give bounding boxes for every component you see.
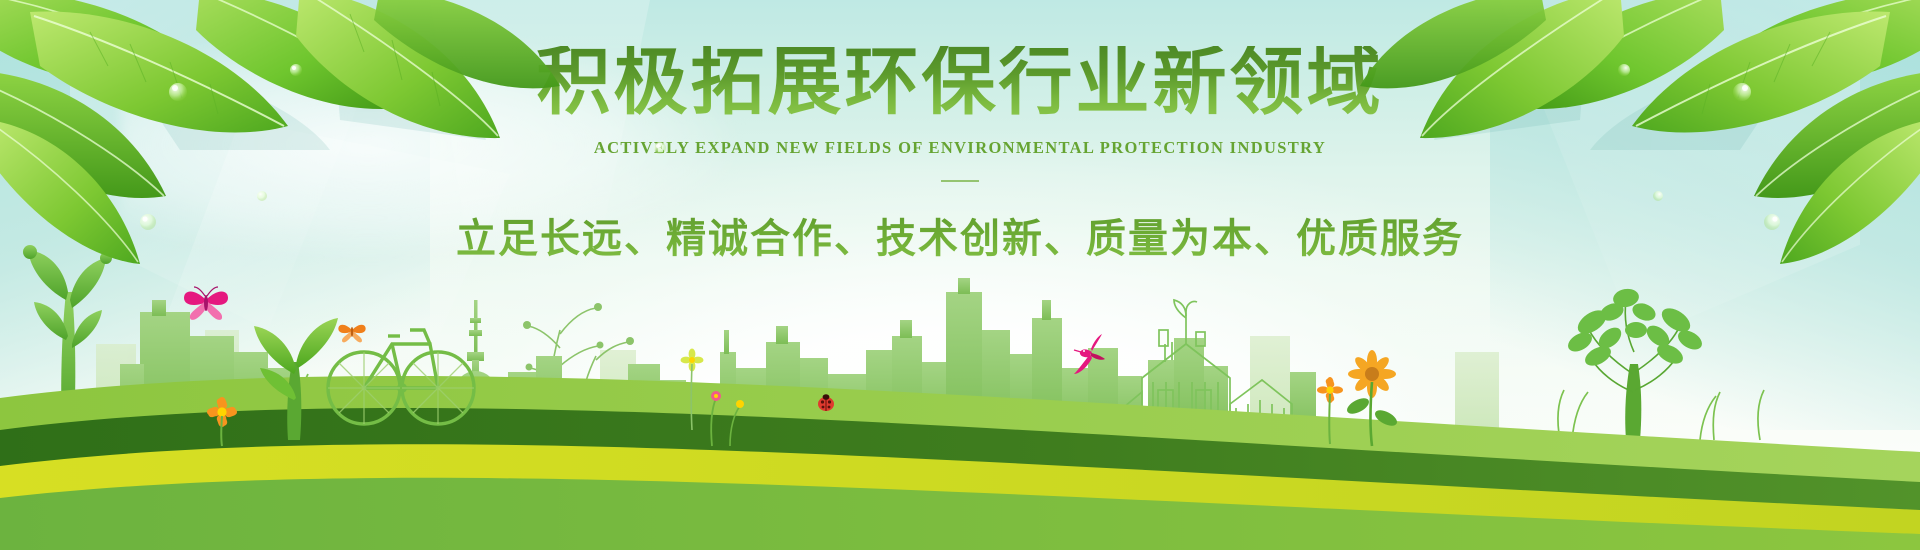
environmental-banner: 积极拓展环保行业新领域 ACTIVELY EXPAND NEW FIELDS O…: [0, 0, 1920, 550]
leaf-cluster-icon: [0, 0, 1920, 550]
leaf-left-group: [0, 0, 666, 264]
